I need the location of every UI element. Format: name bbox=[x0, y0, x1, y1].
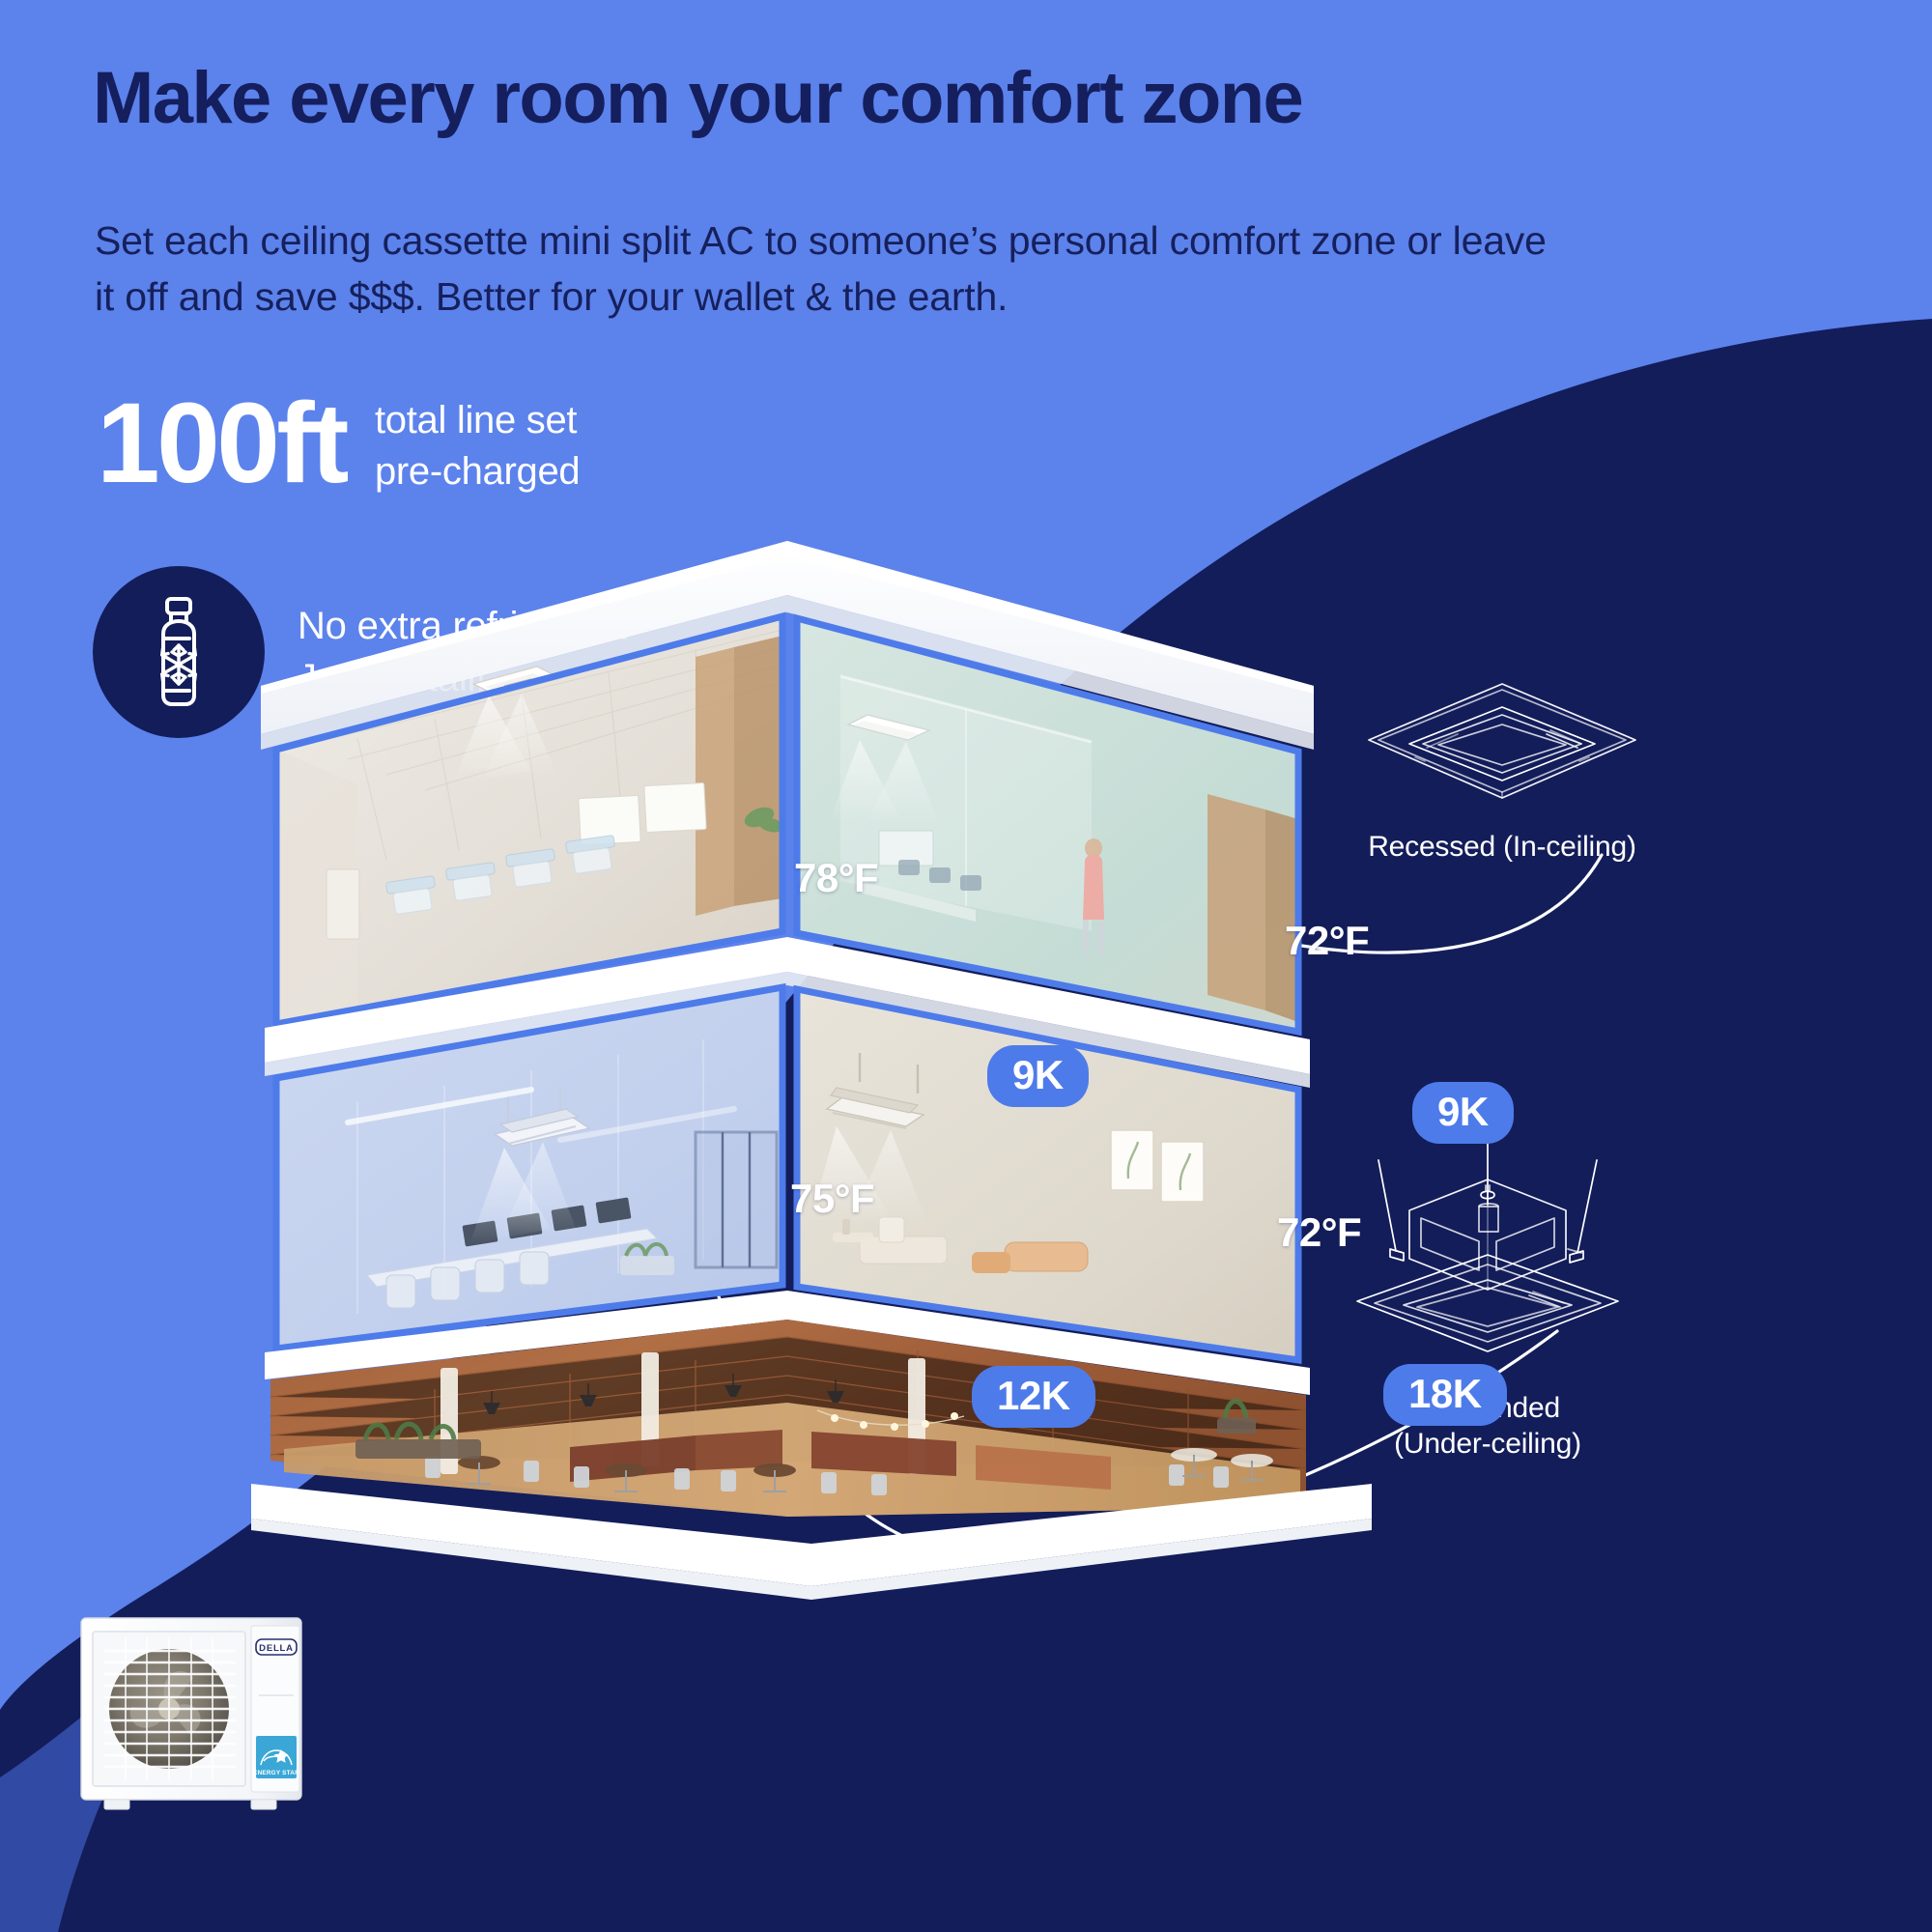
outdoor-unit-brand: DELLA bbox=[259, 1643, 294, 1654]
building-foundation bbox=[184, 1430, 1439, 1681]
refrigerant-tank-snowflake-icon bbox=[134, 595, 223, 709]
temperature-label-meeting: 72°F bbox=[1285, 918, 1369, 964]
suspended-cassette-wireframe-icon bbox=[1328, 1135, 1647, 1381]
outdoor-unit-certification: ENERGY STAR bbox=[253, 1770, 299, 1776]
infographic-canvas: Make every room your comfort zone Set ea… bbox=[0, 0, 1932, 1932]
building-cutaway bbox=[241, 541, 1333, 1517]
line-set-description-line1: total line set bbox=[375, 395, 580, 446]
temperature-label-classroom: 78°F bbox=[794, 855, 878, 901]
recessed-cassette-wireframe-icon bbox=[1357, 676, 1647, 816]
capacity-badge-classroom: 9K bbox=[987, 1045, 1089, 1107]
capacity-badge-open-office: 12K bbox=[972, 1366, 1095, 1428]
line-set-stat: 100ft total line set pre-charged bbox=[97, 386, 580, 500]
outdoor-condenser-unit: DELLA ENERGY STAR bbox=[75, 1589, 312, 1831]
page-subtitle: Set each ceiling cassette mini split AC … bbox=[95, 213, 1563, 325]
temperature-label-open-office: 75°F bbox=[790, 1176, 874, 1222]
capacity-badge-meeting: 9K bbox=[1412, 1082, 1514, 1144]
capacity-badge-lounge: 18K bbox=[1383, 1364, 1507, 1426]
temperature-label-lounge: 72°F bbox=[1277, 1209, 1361, 1256]
line-set-description: total line set pre-charged bbox=[375, 389, 580, 497]
page-title: Make every room your comfort zone bbox=[93, 60, 1841, 136]
refrigerant-icon-circle bbox=[93, 566, 265, 738]
line-set-description-line2: pre-charged bbox=[375, 446, 580, 497]
line-set-value: 100ft bbox=[97, 386, 346, 500]
